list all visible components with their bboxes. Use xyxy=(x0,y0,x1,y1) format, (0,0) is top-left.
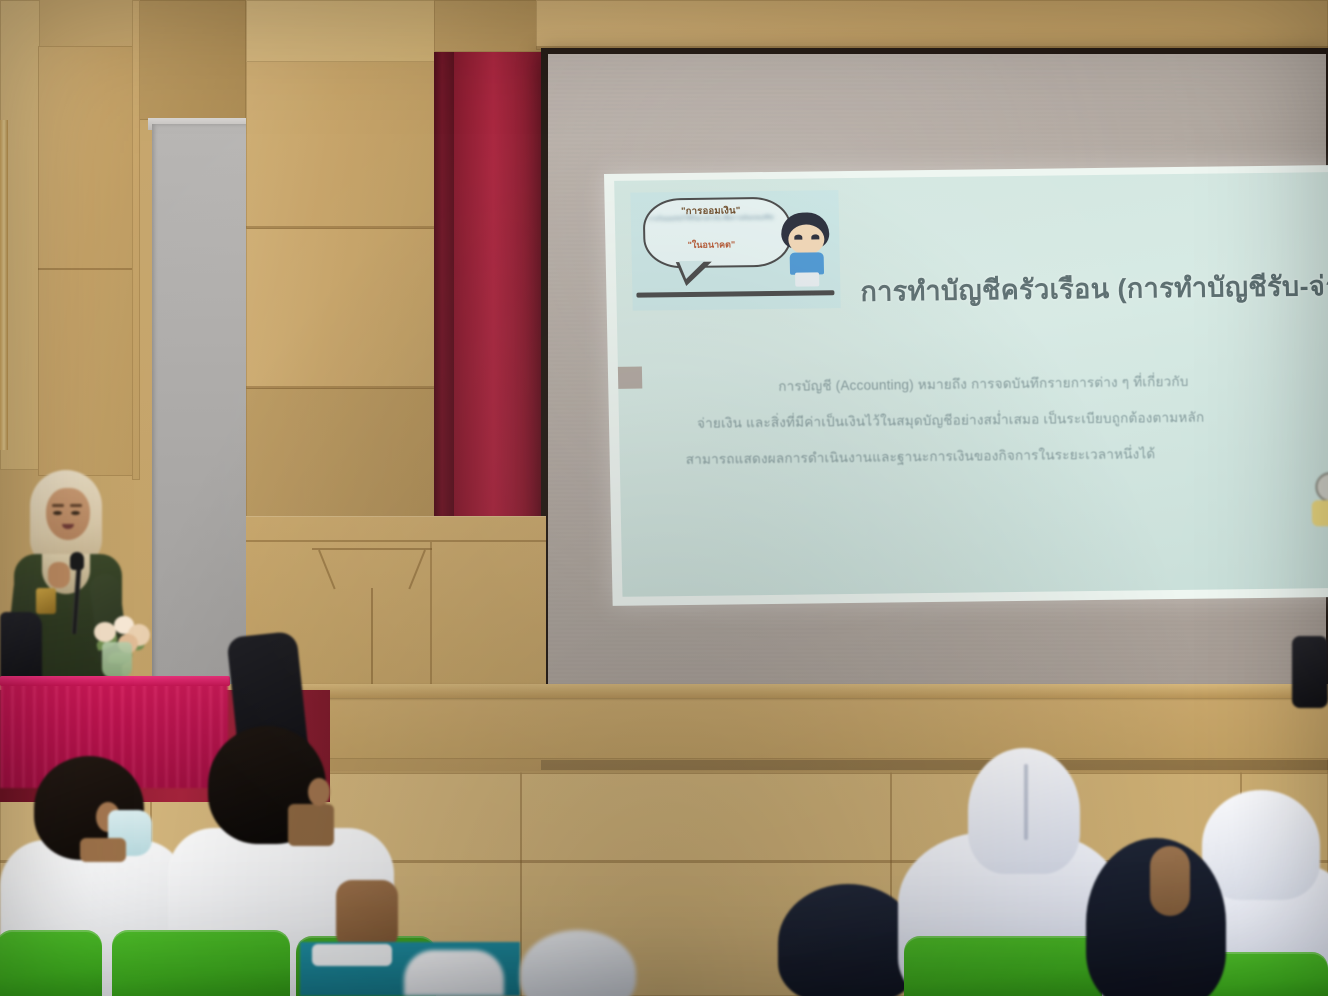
student-7-face xyxy=(1150,846,1190,916)
chair-student-2 xyxy=(112,930,290,996)
slide-title: การทำบัญชีครัวเรือน (การทำบัญชีรับ-จ่าย) xyxy=(860,264,1328,313)
kid-eye-right-icon xyxy=(811,234,819,239)
student-4-hijab xyxy=(778,884,918,996)
vase-glass xyxy=(102,642,132,678)
wall-panel-b xyxy=(132,0,246,120)
saving-kid-illustration: "การออมเงิน" การเก็บออมเงินไว้ใช้ในยามจำ… xyxy=(630,190,840,311)
speaker-eye-right xyxy=(71,511,80,515)
kid-eye-left-icon xyxy=(794,235,802,240)
speaker-brow-right xyxy=(70,504,82,507)
bubble-footer: "ในอนาคต" xyxy=(651,237,771,252)
student-5-hijab-fold xyxy=(1024,764,1028,840)
kid-legs-icon xyxy=(795,272,819,286)
student-2-arm xyxy=(336,880,398,950)
microphone-icon xyxy=(70,552,84,570)
vase-flower-1 xyxy=(94,622,116,642)
bubble-subtext: การเก็บออมเงินไว้ใช้ในยามจำเป็น เพื่อควา… xyxy=(647,215,775,224)
stage-chair-left xyxy=(0,612,42,686)
wall-gold-trim xyxy=(0,120,8,450)
screen-fold-notch xyxy=(616,367,642,389)
wall-decorative-trim xyxy=(312,548,432,698)
wall-seam-d xyxy=(246,386,436,389)
wall-panel-top xyxy=(246,0,436,62)
kid-shirt-icon xyxy=(790,252,824,274)
audience-student-4 xyxy=(778,884,918,996)
ceiling-beam xyxy=(536,0,1328,50)
student-2-ear xyxy=(308,778,330,806)
audience-student-3b xyxy=(404,950,504,996)
wall-seam-c xyxy=(246,226,436,229)
speaker-badge xyxy=(36,588,56,614)
student-1-neck xyxy=(80,838,126,862)
chair-student-5 xyxy=(904,936,1102,996)
student-3-head xyxy=(520,930,636,996)
slide-body-line-3: สามารถแสดงผลการดำเนินงานและฐานะการเงินขอ… xyxy=(686,442,1156,470)
slide-canvas: "การออมเงิน" การเก็บออมเงินไว้ใช้ในยามจำ… xyxy=(614,172,1328,597)
stage-trim-vertical xyxy=(430,542,432,692)
paper-on-table xyxy=(312,944,392,966)
speaker-brow-left xyxy=(52,504,64,507)
chair-student-1 xyxy=(0,930,102,996)
slide-body-line-1: การบัญชี (Accounting) หมายถึง การจดบันทึ… xyxy=(778,370,1189,397)
wall-panel-c xyxy=(246,60,436,230)
wall-post-b xyxy=(132,0,140,480)
student-2-neck xyxy=(288,804,334,846)
audience-student-3 xyxy=(520,930,640,996)
speaker-eye-left xyxy=(53,511,62,515)
wall-header-over-curtain xyxy=(434,0,542,52)
illustration-baseline xyxy=(636,290,834,297)
stage-chair-right xyxy=(1292,636,1328,708)
projected-slide: "การออมเงิน" การเก็บออมเงินไว้ใช้ในยามจำ… xyxy=(604,165,1328,606)
speaker-face xyxy=(46,488,90,540)
wall-panel-a xyxy=(38,46,134,476)
slide-body-line-2: จ่ายเงิน และสิ่งที่มีค่าเป็นเงินไว้ในสมุ… xyxy=(697,406,1205,434)
slide-edge-figure-icon xyxy=(1309,472,1328,527)
wall-seam-a xyxy=(38,268,134,270)
speech-bubble-tail-fill xyxy=(679,261,705,279)
stage-trim-line-1 xyxy=(246,540,546,542)
seminar-photo: "การออมเงิน" การเก็บออมเงินไว้ใช้ในยามจำ… xyxy=(0,0,1328,996)
speaker-hand xyxy=(48,562,70,588)
wall-panel-d xyxy=(246,228,436,390)
head-table-top xyxy=(0,676,230,686)
wall-panel-e xyxy=(246,388,436,518)
